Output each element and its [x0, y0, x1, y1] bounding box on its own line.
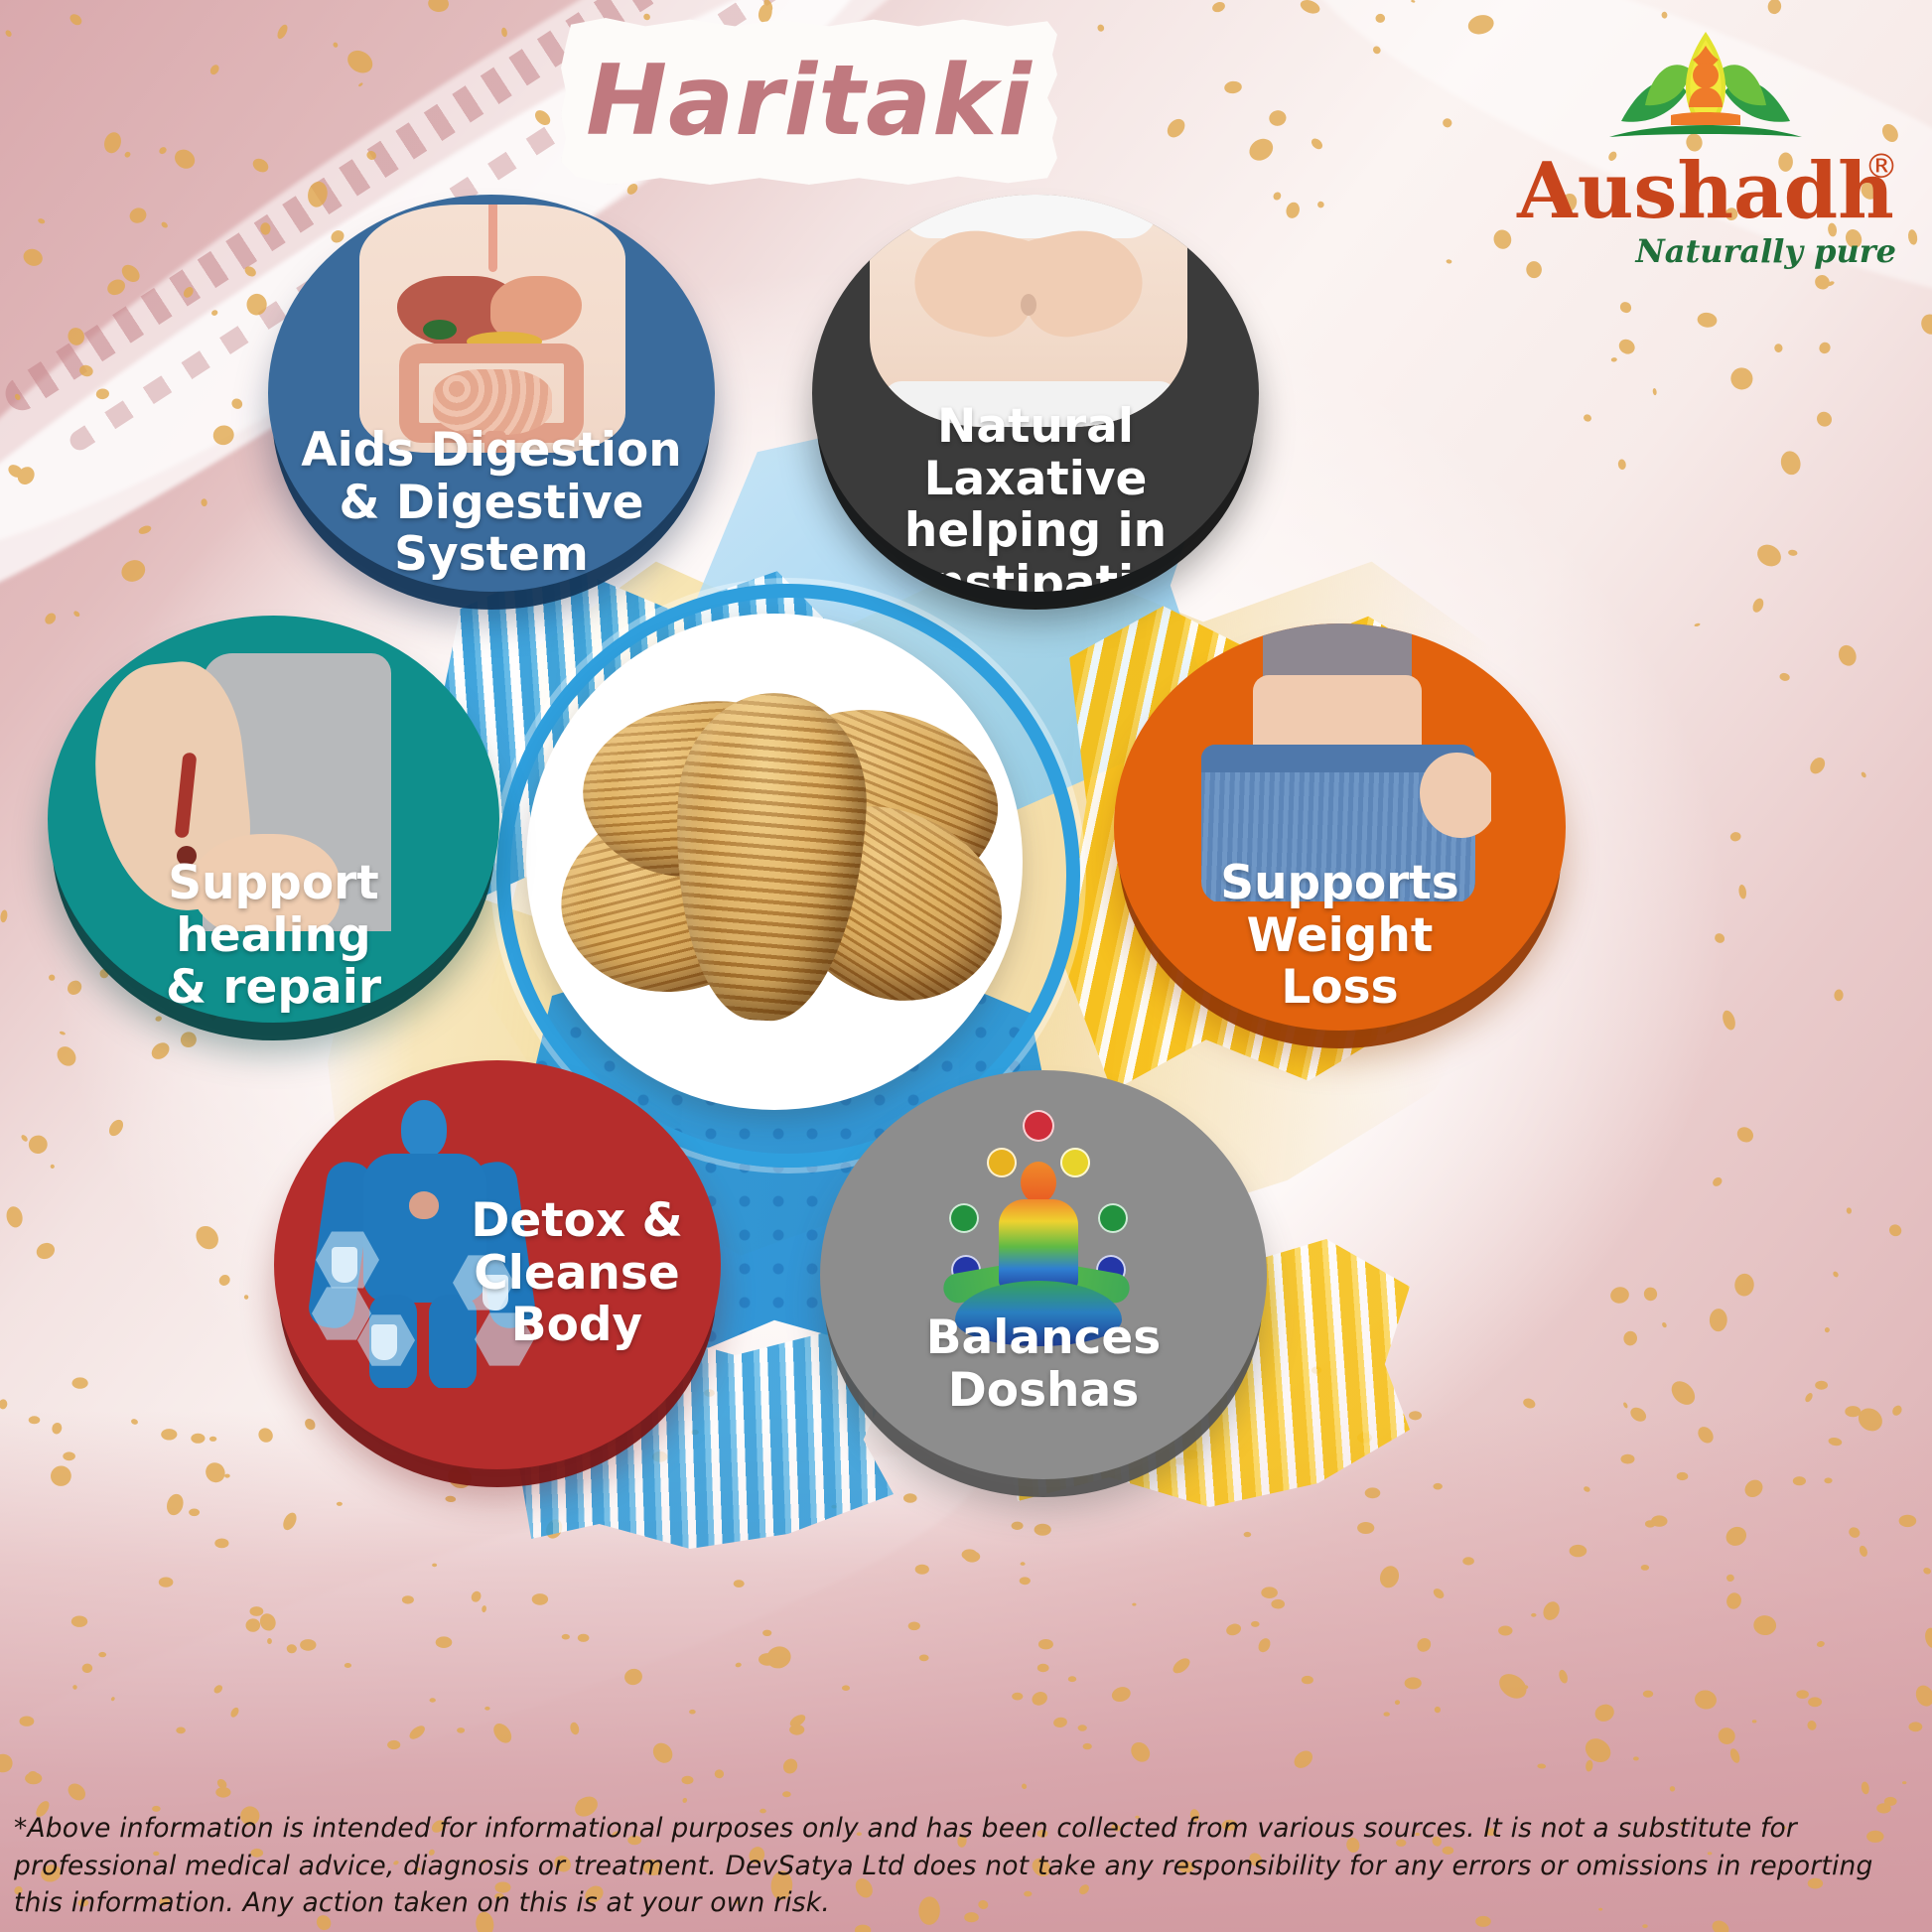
digestive-system-illustration — [359, 205, 625, 453]
benefit-label-digestion: Aids Digestion& DigestiveSystem — [268, 425, 715, 582]
benefit-circle-laxative[interactable]: Natural Laxativehelping inconstipation — [812, 195, 1259, 592]
hands-heart-on-belly-photo — [870, 195, 1187, 427]
benefit-label-healing: Support healing& repair — [48, 858, 499, 1015]
haritaki-fruit-photo — [526, 614, 1023, 1110]
infographic-canvas: Haritaki Aushadh ® Naturally pure — [0, 0, 1932, 1932]
brand-tagline: Naturally pure — [1507, 232, 1896, 270]
benefit-circle-doshas[interactable]: BalancesDoshas — [820, 1070, 1267, 1479]
registered-mark-icon: ® — [1864, 147, 1898, 187]
brand-logo[interactable]: Aushadh ® Naturally pure — [1507, 26, 1904, 274]
benefit-circle-weight-loss[interactable]: Supports WeightLoss — [1114, 623, 1566, 1031]
lotus-meditation-icon — [1601, 26, 1810, 160]
benefit-label-detox: Detox &CleanseBody — [443, 1195, 711, 1352]
disclaimer-text: *Above information is intended for infor… — [14, 1810, 1918, 1922]
brand-name: Aushadh — [1507, 153, 1904, 230]
benefit-circle-healing[interactable]: Support healing& repair — [48, 616, 499, 1023]
page-title: Haritaki — [561, 18, 1057, 185]
benefit-label-laxative: Natural Laxativehelping inconstipation — [812, 401, 1259, 592]
benefit-label-doshas: BalancesDoshas — [820, 1312, 1267, 1417]
benefit-circle-detox[interactable]: Detox &CleanseBody — [274, 1060, 721, 1469]
benefit-label-weight-loss: Supports WeightLoss — [1114, 858, 1566, 1015]
benefit-circle-digestion[interactable]: Aids Digestion& DigestiveSystem — [268, 195, 715, 592]
